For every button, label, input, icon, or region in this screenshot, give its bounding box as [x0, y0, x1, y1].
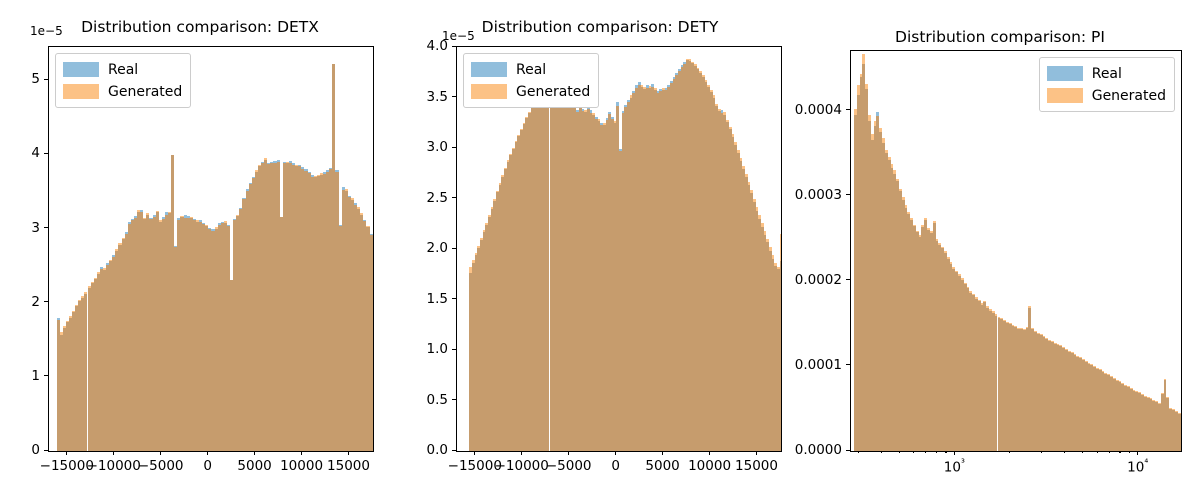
histogram-bar	[1006, 322, 1009, 323]
histogram-bar	[868, 115, 871, 121]
x-tick-label: 15000	[327, 458, 370, 474]
histogram-bar	[1096, 368, 1099, 369]
histogram-bar	[1059, 345, 1062, 346]
histogram-bar	[726, 120, 729, 122]
histogram-bar	[691, 62, 694, 63]
histogram-bar	[862, 54, 865, 63]
y-tick-label: 0	[31, 442, 40, 458]
legend-row-real: Real	[471, 60, 590, 79]
histogram-bar	[156, 211, 159, 212]
legend-swatch-generated-icon	[63, 84, 99, 99]
histogram-bar	[1045, 338, 1048, 339]
histogram-bar	[961, 278, 964, 280]
histogram-bar	[983, 301, 986, 302]
legend-label-generated: Generated	[108, 85, 182, 99]
x-tick-mark	[474, 451, 475, 455]
histogram-bar	[888, 157, 891, 160]
histogram-bar	[753, 199, 756, 202]
histogram-bar	[910, 218, 913, 220]
histogram-bar	[1116, 380, 1119, 381]
x-tick-mark	[521, 451, 522, 455]
x-tick-label: 0	[611, 458, 620, 474]
histogram-bar	[227, 225, 230, 226]
y-tick-label: 3.0	[427, 139, 448, 155]
y-tick-label: 1	[31, 368, 40, 384]
x-minor-tick-mark	[1109, 451, 1110, 453]
histogram-bar	[995, 314, 998, 316]
histogram-bar	[1009, 323, 1012, 324]
histogram-bar	[289, 161, 292, 162]
x-minor-tick-mark	[1082, 451, 1083, 453]
legend-row-real: Real	[63, 60, 182, 79]
histogram-bar	[772, 255, 775, 259]
y-tick-mark	[846, 450, 850, 451]
axes-detx: Real Generated	[48, 46, 374, 452]
histogram-bar	[758, 215, 761, 219]
y-tick-mark	[846, 279, 850, 280]
histogram-bar	[598, 119, 601, 121]
x-minor-tick-mark	[881, 451, 882, 453]
histogram-bar	[370, 234, 373, 235]
x-tick-mark	[254, 451, 255, 455]
histogram-bar	[1130, 388, 1133, 389]
x-tick-label: 0	[203, 458, 212, 474]
x-minor-tick-mark	[899, 451, 900, 453]
histogram-bar	[891, 164, 894, 167]
histogram-bar	[905, 205, 908, 208]
legend-label-real: Real	[516, 63, 546, 77]
histogram-bar	[1051, 341, 1054, 342]
histogram-bar	[1079, 357, 1082, 358]
x-tick-mark	[113, 451, 114, 455]
subplot-detx: Distribution comparison: DETX 1e−5 Real …	[0, 0, 400, 500]
x-tick-mark	[301, 451, 302, 455]
histogram-bar	[345, 189, 348, 191]
histogram-bar	[1141, 394, 1144, 395]
y-tick-label: 3	[31, 220, 40, 236]
histogram-bar	[592, 113, 595, 115]
histogram-bar	[947, 257, 950, 259]
legend-pi[interactable]: Real Generated	[1039, 57, 1175, 112]
histogram-bar	[335, 170, 338, 171]
histogram-bar	[916, 231, 919, 233]
x-tick-label: 5000	[237, 458, 271, 474]
histogram-bar	[745, 174, 748, 177]
histogram-bar	[224, 221, 227, 222]
histogram-bar	[689, 59, 692, 61]
histogram-bar	[1164, 379, 1167, 380]
histogram-bar	[146, 213, 149, 215]
legend-row-real: Real	[1047, 64, 1166, 83]
histogram-bar	[876, 112, 879, 115]
histogram-bar	[707, 85, 710, 87]
histogram-bar	[941, 247, 944, 249]
histogram-bar	[975, 297, 978, 299]
histogram-bar	[885, 150, 888, 153]
x-tick-mark	[662, 451, 663, 455]
y-tick-label: 4	[31, 145, 40, 161]
histogram-bar	[705, 80, 708, 82]
axes-dety: Real Generated	[456, 46, 782, 452]
x-tick-label: −10000	[495, 458, 549, 474]
legend-swatch-real-icon	[1047, 66, 1083, 81]
y-tick-mark	[452, 298, 456, 299]
y-tick-label: 2.0	[427, 240, 448, 256]
histogram-bar	[702, 75, 705, 77]
x-tick-label: −10000	[87, 458, 141, 474]
y-tick-label: 2	[31, 294, 40, 310]
histogram-bar	[902, 197, 905, 200]
histogram-bar	[264, 158, 267, 159]
legend-swatch-generated-icon	[471, 84, 507, 99]
histogram-bar	[713, 95, 716, 97]
histogram-bar	[1172, 409, 1175, 410]
x-minor-tick-mark	[945, 451, 946, 453]
x-tick-mark	[615, 451, 616, 455]
histogram-bar	[1028, 306, 1031, 308]
histogram-bar	[998, 317, 1001, 318]
histogram-bar	[308, 172, 311, 173]
histogram-bar	[57, 318, 60, 320]
histogram-bar	[950, 262, 953, 264]
histogram-bar	[697, 68, 700, 69]
y-tick-label: 0.0003	[795, 187, 842, 203]
histogram-bar	[1043, 336, 1046, 337]
histogram-bar	[1090, 364, 1093, 365]
histogram-bar	[1062, 347, 1065, 348]
x-minor-tick-mark	[925, 451, 926, 453]
histogram-bar	[699, 71, 702, 73]
x-tick-label: 10³	[944, 458, 965, 476]
histogram-bar	[780, 234, 781, 261]
histogram-bar	[750, 190, 753, 193]
y-tick-mark	[44, 375, 48, 376]
histogram-bar	[1119, 381, 1122, 382]
histogram-bar	[304, 169, 307, 170]
legend-label-real: Real	[108, 63, 138, 77]
histogram-bar	[348, 196, 351, 197]
histogram-bar	[366, 226, 369, 227]
histogram-bar	[205, 225, 208, 226]
histogram-bar	[1155, 401, 1158, 402]
histogram-bar	[913, 225, 916, 227]
histogram-bar	[360, 213, 363, 214]
x-tick-label: 10⁴	[1127, 458, 1148, 476]
histogram-bar	[710, 90, 713, 92]
histogram-bar	[1107, 374, 1110, 375]
y-tick-mark	[452, 46, 456, 47]
x-tick-label: 10000	[280, 458, 323, 474]
histogram-bar	[1040, 334, 1043, 335]
histogram-bar	[766, 239, 769, 242]
x-tick-mark	[348, 451, 349, 455]
histogram-bar	[1138, 392, 1141, 393]
histogram-bar	[1175, 411, 1178, 412]
y-tick-label: 5	[31, 71, 40, 87]
subplot-pi: Distribution comparison: PI Real Generat…	[800, 0, 1200, 500]
x-tick-label: 5000	[645, 458, 679, 474]
histogram-bar	[989, 309, 992, 311]
x-minor-tick-mark	[913, 451, 914, 453]
y-tick-mark	[452, 349, 456, 350]
legend-row-generated: Generated	[63, 82, 182, 101]
histogram-bar	[955, 271, 958, 273]
histogram-bar	[608, 112, 611, 114]
legend-dety[interactable]: Real Generated	[463, 53, 599, 108]
legend-row-generated: Generated	[471, 82, 590, 101]
legend-label-generated: Generated	[516, 85, 590, 99]
y-tick-label: 3.5	[427, 89, 448, 105]
subplot-dety: Distribution comparison: DETY 1e−5 Real …	[400, 0, 800, 500]
histogram-bar	[654, 88, 657, 90]
histogram-bar	[1085, 361, 1088, 362]
histogram-bar	[1104, 373, 1107, 374]
histogram-bar	[1071, 352, 1074, 353]
legend-label-real: Real	[1092, 67, 1122, 81]
histogram-bar	[780, 261, 781, 451]
histogram-bar	[1068, 351, 1071, 352]
histogram-bar	[1031, 328, 1034, 329]
y-tick-mark	[452, 96, 456, 97]
histogram-bar	[958, 274, 961, 276]
y-tick-mark	[452, 399, 456, 400]
histogram-bar	[896, 179, 899, 182]
y-tick-label: 0.5	[427, 392, 448, 408]
x-tick-mark	[756, 451, 757, 455]
x-minor-tick-mark	[1119, 451, 1120, 453]
histogram-bar	[944, 251, 947, 253]
x-tick-label: 15000	[735, 458, 778, 474]
y-tick-mark	[846, 364, 850, 365]
y-tick-mark	[452, 248, 456, 249]
y-tick-mark	[44, 79, 48, 80]
histogram-bar	[865, 84, 868, 89]
legend-label-generated: Generated	[1092, 89, 1166, 103]
histogram-bar	[734, 142, 737, 145]
x-minor-tick-mark	[936, 451, 937, 453]
histogram-bar	[1034, 331, 1037, 332]
x-tick-mark	[66, 451, 67, 455]
histogram-bar	[740, 158, 743, 161]
x-minor-tick-mark	[1097, 451, 1098, 453]
histogram-bar	[1014, 326, 1017, 327]
legend-swatch-real-icon	[63, 62, 99, 77]
y-tick-label: 0.0004	[795, 102, 842, 118]
y-tick-mark	[44, 450, 48, 451]
y-tick-mark	[452, 450, 456, 451]
x-tick-mark	[954, 451, 955, 455]
histogram-bar	[354, 203, 357, 204]
histogram-bar	[978, 300, 981, 302]
x-minor-tick-mark	[1041, 451, 1042, 453]
histogram-bar	[1169, 408, 1172, 409]
histogram-bar	[351, 198, 354, 199]
y-tick-label: 2.5	[427, 190, 448, 206]
histogram-bar	[1093, 366, 1096, 367]
histogram-bar	[723, 112, 726, 115]
x-tick-mark	[160, 451, 161, 455]
x-minor-tick-mark	[1009, 451, 1010, 453]
histogram-bar	[715, 104, 718, 106]
x-tick-mark	[568, 451, 569, 455]
histogram-bar	[972, 294, 975, 295]
histogram-bar	[1088, 363, 1091, 364]
y-tick-label: 4.0	[427, 38, 448, 54]
histogram-bar	[986, 306, 989, 308]
y-tick-label: 0.0	[427, 442, 448, 458]
histogram-bar	[907, 212, 910, 215]
histogram-bar	[893, 170, 896, 173]
x-minor-tick-mark	[1064, 451, 1065, 453]
histogram-bar	[1124, 385, 1127, 386]
histogram-bar	[967, 287, 970, 289]
histogram-bar	[363, 220, 366, 221]
histogram-bar	[1127, 386, 1130, 387]
x-minor-tick-mark	[858, 451, 859, 453]
histogram-bar	[933, 221, 936, 223]
histogram-bar	[1166, 397, 1169, 398]
histogram-bar	[1110, 376, 1113, 377]
histogram-bar	[1048, 340, 1051, 341]
y-tick-mark	[846, 109, 850, 110]
histogram-bar	[936, 239, 939, 241]
histogram-bar	[761, 223, 764, 227]
histogram-bar	[992, 311, 995, 313]
histogram-bar	[899, 189, 902, 192]
x-tick-mark	[709, 451, 710, 455]
plot-title-pi: Distribution comparison: PI	[800, 28, 1200, 46]
histogram-bar	[1181, 414, 1182, 415]
legend-row-generated: Generated	[1047, 86, 1166, 105]
histogram-bar	[969, 291, 972, 293]
histogram-bar	[882, 138, 885, 143]
x-minor-tick-mark	[1129, 451, 1130, 453]
histogram-bar	[1099, 369, 1102, 370]
histogram-bar	[1000, 318, 1003, 319]
legend-swatch-generated-icon	[1047, 88, 1083, 103]
histogram-bar	[1113, 378, 1116, 379]
y-tick-mark	[846, 194, 850, 195]
histogram-bar	[938, 243, 941, 245]
x-tick-label: −5000	[138, 458, 184, 474]
y-tick-label: 0.0002	[795, 272, 842, 288]
histogram-bar	[1135, 391, 1138, 392]
histogram-bar	[1074, 354, 1077, 355]
histogram-bar	[729, 127, 732, 129]
x-tick-mark	[207, 451, 208, 455]
histogram-bar	[1147, 397, 1150, 398]
histogram-bar	[924, 218, 927, 220]
histogram-bar	[1037, 333, 1040, 334]
histogram-bar	[764, 231, 767, 235]
histogram-bar	[879, 128, 882, 131]
histogram-bar	[694, 64, 697, 66]
histogram-bar	[357, 207, 360, 208]
axes-pi: Real Generated	[850, 50, 1182, 452]
y-tick-label: 0.0000	[795, 442, 842, 458]
y-tick-mark	[452, 197, 456, 198]
x-tick-label: −5000	[546, 458, 592, 474]
histogram-bar	[774, 263, 777, 266]
histogram-bar	[1150, 398, 1153, 399]
y-tick-label: 1.5	[427, 291, 448, 307]
histogram-bar	[1181, 414, 1182, 451]
legend-detx[interactable]: Real Generated	[55, 53, 191, 108]
histogram-bar	[756, 207, 759, 211]
histogram-bar	[952, 267, 955, 269]
histogram-bar	[1102, 371, 1105, 372]
y-tick-label: 1.0	[427, 341, 448, 357]
histogram-bar	[748, 182, 751, 185]
x-tick-label: 10000	[688, 458, 731, 474]
y-tick-mark	[44, 153, 48, 154]
histogram-bar	[1057, 344, 1060, 345]
figure-canvas: Distribution comparison: DETX 1e−5 Real …	[0, 0, 1200, 500]
histogram-bar	[1065, 349, 1068, 350]
histogram-bar	[737, 150, 740, 153]
histogram-bar	[140, 210, 143, 211]
histogram-bar	[616, 102, 619, 106]
histogram-bar	[927, 228, 930, 230]
histogram-bar	[651, 84, 654, 87]
histogram-bar	[742, 166, 745, 169]
legend-swatch-real-icon	[471, 62, 507, 77]
histogram-bar	[1003, 320, 1006, 321]
y-tick-label: 0.0001	[795, 357, 842, 373]
histogram-bar	[611, 117, 614, 119]
histogram-bar	[277, 160, 280, 161]
histogram-bar	[732, 134, 735, 137]
y-tick-mark	[452, 147, 456, 148]
histogram-bar	[964, 283, 967, 285]
histogram-bar	[769, 247, 772, 251]
y-tick-mark	[44, 301, 48, 302]
y-tick-mark	[44, 227, 48, 228]
x-tick-mark	[1137, 451, 1138, 455]
histogram-bar	[1082, 359, 1085, 360]
y-offset-text-detx: 1e−5	[30, 24, 63, 38]
